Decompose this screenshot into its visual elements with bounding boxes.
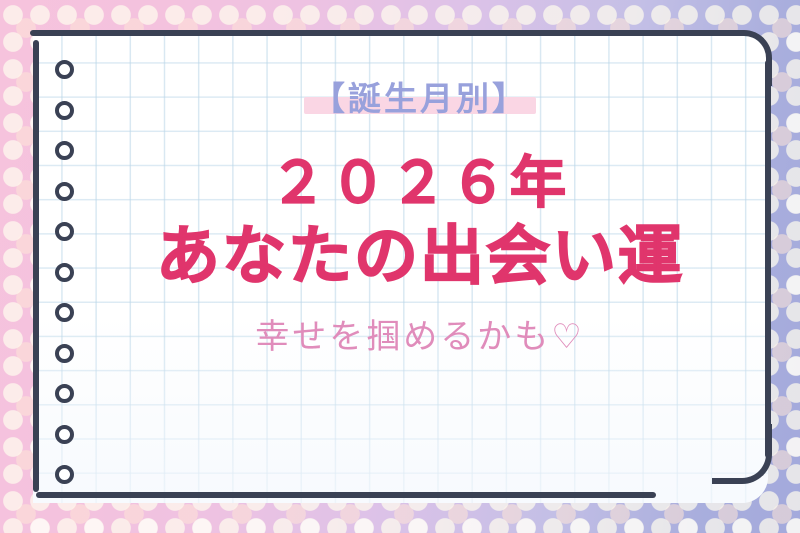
banner-canvas: 【誕生月別】 ２０２６年 あなたの出会い運 幸せを掴めるかも♡ (0, 0, 800, 533)
punch-hole-icon (55, 465, 74, 484)
punch-hole-icon (55, 141, 74, 160)
punch-hole-icon (55, 101, 74, 120)
subtitle-group: 【誕生月別】 (312, 81, 528, 117)
banner-subtitle: 【誕生月別】 (312, 81, 528, 117)
banner-tagline: 幸せを掴めるかも♡ (255, 319, 584, 356)
punch-hole-icon (55, 344, 74, 363)
punch-hole-icon (55, 60, 74, 79)
punch-hole-icon (55, 263, 74, 282)
punch-hole-icon (55, 425, 74, 444)
punch-hole-icon (55, 222, 74, 241)
banner-title-line2: あなたの出会い運 (156, 224, 684, 291)
punch-hole-icon (55, 384, 74, 403)
banner-text-block: 【誕生月別】 ２０２６年 あなたの出会い運 幸せを掴めるかも♡ (90, 31, 750, 503)
banner-title-line1: ２０２６年 (270, 155, 570, 214)
punch-hole-icon (55, 182, 74, 201)
punch-hole-icon (55, 303, 74, 322)
